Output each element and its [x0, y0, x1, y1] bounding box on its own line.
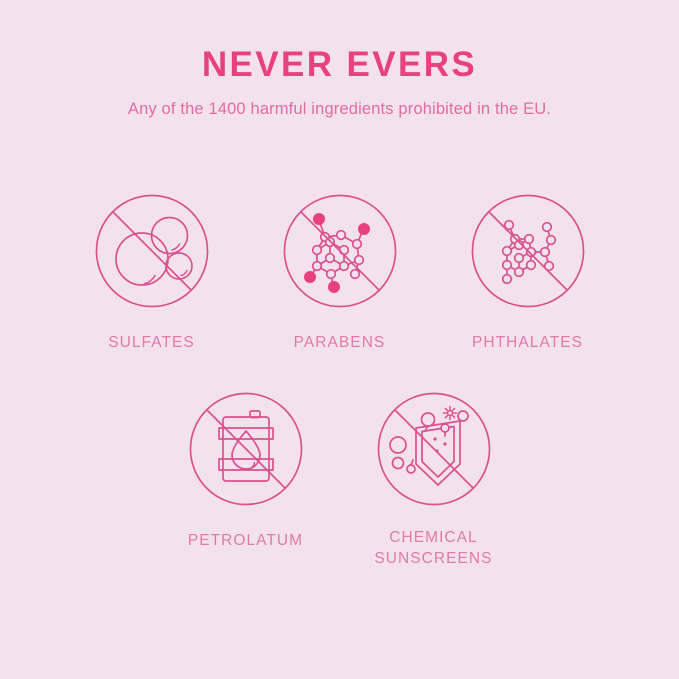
icon-cell-phthalates: PHTHALATES: [434, 192, 622, 353]
never-evers-infographic: NEVER EVERS Any of the 1400 harmful ingr…: [0, 0, 679, 679]
no-phthalates-molecule-icon: [469, 192, 587, 310]
icon-label: CHEMICAL SUNSCREENS: [374, 527, 492, 569]
icon-label: PARABENS: [294, 332, 386, 353]
page-title: NEVER EVERS: [0, 44, 679, 86]
header: NEVER EVERS Any of the 1400 harmful ingr…: [0, 44, 679, 120]
icon-label: PETROLATUM: [188, 530, 303, 551]
no-petrolatum-oil-barrel-icon: [187, 390, 305, 508]
icon-cell-sulfates: SULFATES: [58, 192, 246, 353]
icon-cell-parabens: PARABENS: [246, 192, 434, 353]
no-sulfates-bubbles-icon: [93, 192, 211, 310]
icon-label: PHTHALATES: [472, 332, 583, 353]
page-subtitle: Any of the 1400 harmful ingredients proh…: [0, 98, 679, 120]
no-chemical-sunscreens-shield-icon: [375, 390, 493, 508]
icon-cell-petrolatum: PETROLATUM: [152, 390, 340, 569]
icon-cell-chemical-sunscreens: CHEMICAL SUNSCREENS: [340, 390, 528, 569]
icon-label: SULFATES: [108, 332, 195, 353]
no-parabens-molecule-icon: [281, 192, 399, 310]
icon-row-1: SULFATES: [0, 192, 679, 353]
icon-row-2: PETROLATUM: [0, 390, 679, 569]
